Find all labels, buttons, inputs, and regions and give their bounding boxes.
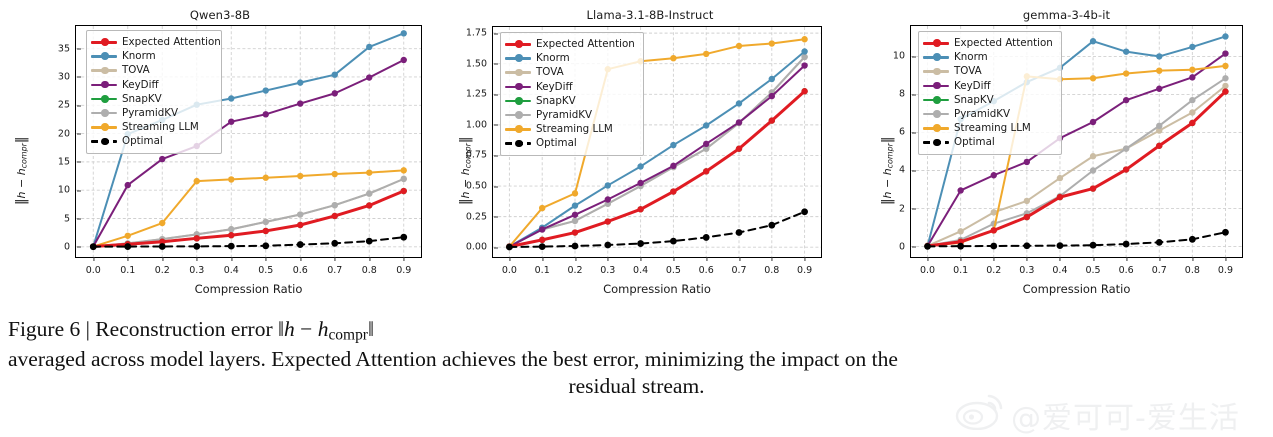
legend-item[interactable]: PyramidKV <box>91 106 215 120</box>
series-marker <box>670 55 676 61</box>
legend-item-label: KeyDiff <box>954 81 991 91</box>
series-marker <box>1123 166 1129 172</box>
legend-item[interactable]: Knorm <box>923 50 1055 64</box>
y-tick-label: 5 <box>64 213 76 224</box>
x-tick-label: 0.6 <box>1119 257 1134 276</box>
series-marker <box>539 205 545 211</box>
series-marker <box>572 202 578 208</box>
y-tick-label: 20 <box>58 128 76 139</box>
x-tick-label: 0.1 <box>120 257 135 276</box>
legend-item-label: Streaming LLM <box>536 124 613 134</box>
series-marker <box>801 62 807 68</box>
y-tick-label: 8 <box>899 89 911 100</box>
series-marker <box>297 211 303 217</box>
series-marker <box>736 229 743 236</box>
legend-item[interactable]: Knorm <box>91 49 215 63</box>
legend-item-label: TOVA <box>954 66 982 76</box>
x-axis-label: Compression Ratio <box>492 282 822 296</box>
series-marker <box>1123 48 1129 54</box>
caption-line-3: residual stream. <box>0 373 1273 401</box>
series-marker <box>801 54 807 60</box>
legend-swatch-icon <box>505 137 531 149</box>
series-marker <box>228 232 234 238</box>
legend-item[interactable]: PyramidKV <box>505 108 637 122</box>
caption-h: h <box>284 317 295 341</box>
series-marker <box>637 240 644 247</box>
chart-panel-gemma-3-4b-it: gemma-3-4b-it ‖h − hcompr‖ 02468100.00.1… <box>860 0 1273 310</box>
legend-swatch-icon <box>923 108 949 120</box>
series-marker <box>768 222 775 229</box>
series-marker <box>263 87 269 93</box>
legend-item[interactable]: SnapKV <box>505 94 637 108</box>
series-marker <box>539 243 546 250</box>
series-marker <box>366 190 372 196</box>
x-tick-label: 0.3 <box>1019 257 1034 276</box>
series-marker <box>400 234 407 241</box>
legend-item[interactable]: Expected Attention <box>923 36 1055 50</box>
series-marker <box>1057 175 1063 181</box>
caption-line-1: Figure 6 | Reconstruction error ‖h − hco… <box>0 316 1273 346</box>
chart-title: gemma-3-4b-it <box>860 8 1273 22</box>
legend-item[interactable]: Knorm <box>505 51 637 65</box>
series-marker <box>957 187 963 193</box>
chart-panel-qwen3-8b: Qwen3-8B ‖h − hcompr‖ 051015202530350.00… <box>0 0 440 310</box>
y-tick-label: 0 <box>64 241 76 252</box>
x-tick-label: 0.8 <box>362 257 377 276</box>
x-tick-label: 0.2 <box>155 257 170 276</box>
series-marker <box>1156 239 1163 246</box>
series-marker <box>1090 119 1096 125</box>
legend-item-label: Expected Attention <box>122 37 221 47</box>
x-tick-label: 0.9 <box>797 257 812 276</box>
figure-root: Qwen3-8B ‖h − hcompr‖ 051015202530350.00… <box>0 0 1273 436</box>
legend-item[interactable]: KeyDiff <box>923 79 1055 93</box>
series-marker <box>228 176 234 182</box>
chart-title: Llama-3.1-8B-Instruct <box>440 8 860 22</box>
series-marker <box>801 208 808 215</box>
caption-subscript: compr <box>328 326 368 343</box>
x-tick-label: 0.1 <box>535 257 550 276</box>
y-tick-label: 25 <box>58 100 76 111</box>
x-tick-label: 0.5 <box>258 257 273 276</box>
y-tick-label: 15 <box>58 156 76 167</box>
legend-swatch-icon <box>923 65 949 77</box>
series-marker <box>736 100 742 106</box>
legend-item-label: SnapKV <box>122 94 162 104</box>
series-marker <box>366 169 372 175</box>
legend-swatch-icon <box>505 123 531 135</box>
chart-title: Qwen3-8B <box>0 8 440 22</box>
y-tick-label: 35 <box>58 43 76 54</box>
x-tick-label: 0.2 <box>567 257 582 276</box>
series-marker <box>572 190 578 196</box>
series-marker <box>670 142 676 148</box>
series-marker <box>539 237 545 243</box>
x-axis-label: Compression Ratio <box>75 282 422 296</box>
series-marker <box>1090 185 1096 191</box>
series-marker <box>228 226 234 232</box>
plot-area: 02468100.00.10.20.30.40.50.60.70.80.9Exp… <box>910 25 1243 258</box>
legend-item-label: Optimal <box>536 138 577 148</box>
legend-item-label: PyramidKV <box>536 110 592 120</box>
legend-swatch-icon <box>505 38 531 50</box>
series-marker <box>1090 75 1096 81</box>
chart-legend: Expected AttentionKnormTOVAKeyDiffSnapKV… <box>918 31 1062 155</box>
legend-item[interactable]: KeyDiff <box>91 78 215 92</box>
y-tick-label: 1.00 <box>466 119 493 130</box>
legend-item-label: SnapKV <box>536 96 576 106</box>
series-marker <box>1156 53 1162 59</box>
series-marker <box>1222 33 1228 39</box>
series-line <box>93 179 404 247</box>
legend-swatch-icon <box>923 37 949 49</box>
legend-item[interactable]: TOVA <box>91 63 215 77</box>
series-marker <box>159 156 165 162</box>
series-marker <box>1156 67 1162 73</box>
series-marker <box>1222 88 1228 94</box>
series-marker <box>572 212 578 218</box>
y-tick-label: 6 <box>899 127 911 138</box>
series-marker <box>366 202 372 208</box>
x-tick-label: 0.8 <box>1185 257 1200 276</box>
series-marker <box>1189 236 1196 243</box>
series-marker <box>1123 241 1130 248</box>
series-marker <box>263 219 269 225</box>
series-marker <box>1189 120 1195 126</box>
y-tick-label: 0.00 <box>466 242 493 253</box>
series-marker <box>637 206 643 212</box>
series-marker <box>703 168 709 174</box>
legend-item[interactable]: Optimal <box>91 134 215 148</box>
x-tick-label: 0.0 <box>920 257 935 276</box>
series-marker <box>297 222 303 228</box>
series-marker <box>124 243 131 250</box>
y-tick-label: 30 <box>58 71 76 82</box>
legend-swatch-icon <box>91 79 117 91</box>
series-marker <box>637 163 643 169</box>
series-marker <box>670 188 676 194</box>
y-axis-label: ‖h − hcompr‖ <box>880 137 895 205</box>
series-marker <box>1189 67 1195 73</box>
caption-norm-close: ‖ <box>368 317 374 341</box>
series-marker <box>1123 145 1129 151</box>
legend-item-label: PyramidKV <box>122 108 178 118</box>
x-axis-label: Compression Ratio <box>910 282 1243 296</box>
y-tick-label: 1.25 <box>466 89 493 100</box>
series-marker <box>401 176 407 182</box>
series-marker <box>605 182 611 188</box>
series-marker <box>1222 75 1228 81</box>
series-marker <box>1222 63 1228 69</box>
series-marker <box>332 213 338 219</box>
series-marker <box>1090 153 1096 159</box>
series-marker <box>332 171 338 177</box>
legend-swatch-icon <box>505 52 531 64</box>
chart-legend: Expected AttentionKnormTOVAKeyDiffSnapKV… <box>86 30 222 154</box>
series-marker <box>801 36 807 42</box>
x-tick-label: 0.9 <box>396 257 411 276</box>
series-marker <box>1123 70 1129 76</box>
series-marker <box>1156 143 1162 149</box>
series-marker <box>194 235 200 241</box>
series-marker <box>572 243 579 250</box>
legend-item[interactable]: KeyDiff <box>505 80 637 94</box>
series-marker <box>506 244 513 251</box>
chart-panels: Qwen3-8B ‖h − hcompr‖ 051015202530350.00… <box>0 0 1273 310</box>
x-tick-label: 0.1 <box>953 257 968 276</box>
x-tick-label: 0.5 <box>666 257 681 276</box>
legend-item-label: TOVA <box>536 67 564 77</box>
legend-item-label: Expected Attention <box>536 39 635 49</box>
series-marker <box>990 243 997 250</box>
y-tick-label: 4 <box>899 165 911 176</box>
legend-item-label: PyramidKV <box>954 109 1010 119</box>
legend-item[interactable]: Streaming LLM <box>505 122 637 136</box>
series-marker <box>159 243 166 250</box>
series-marker <box>670 163 676 169</box>
x-tick-label: 0.6 <box>293 257 308 276</box>
series-marker <box>332 71 338 77</box>
series-marker <box>703 141 709 147</box>
series-marker <box>262 242 269 249</box>
x-tick-label: 0.4 <box>1052 257 1067 276</box>
chart-legend: Expected AttentionKnormTOVAKeyDiffSnapKV… <box>500 32 644 156</box>
series-marker <box>401 167 407 173</box>
y-tick-label: 0 <box>899 241 911 252</box>
legend-item[interactable]: SnapKV <box>923 93 1055 107</box>
series-marker <box>263 228 269 234</box>
series-marker <box>1156 86 1162 92</box>
series-marker <box>401 30 407 36</box>
legend-swatch-icon <box>923 122 949 134</box>
series-marker <box>125 233 131 239</box>
series-marker <box>736 119 742 125</box>
series-marker <box>957 243 964 250</box>
y-tick-label: 1.75 <box>466 28 493 39</box>
series-marker <box>1057 242 1064 249</box>
legend-swatch-icon <box>923 136 949 148</box>
series-marker <box>924 243 931 250</box>
x-tick-label: 0.8 <box>764 257 779 276</box>
y-axis-label: ‖h − hcompr‖ <box>458 137 473 205</box>
series-marker <box>1023 242 1030 249</box>
series-marker <box>263 111 269 117</box>
y-tick-label: 1.50 <box>466 58 493 69</box>
x-tick-label: 0.7 <box>327 257 342 276</box>
series-marker <box>1024 198 1030 204</box>
series-marker <box>1090 242 1097 249</box>
y-tick-label: 10 <box>58 185 76 196</box>
legend-item-label: Streaming LLM <box>122 122 199 132</box>
y-tick-label: 10 <box>893 51 911 62</box>
y-tick-label: 0.50 <box>466 181 493 192</box>
legend-item[interactable]: SnapKV <box>91 92 215 106</box>
series-marker <box>401 57 407 63</box>
series-marker <box>703 234 710 241</box>
series-marker <box>401 188 407 194</box>
series-marker <box>366 44 372 50</box>
series-marker <box>769 117 775 123</box>
caption-text-1: Figure 6 | Reconstruction error <box>8 317 278 341</box>
series-marker <box>605 218 611 224</box>
y-tick-label: 2 <box>899 203 911 214</box>
plot-area: 051015202530350.00.10.20.30.40.50.60.70.… <box>75 25 422 258</box>
series-marker <box>1024 159 1030 165</box>
series-marker <box>769 40 775 46</box>
series-marker <box>331 240 338 247</box>
legend-item-label: KeyDiff <box>122 80 159 90</box>
series-marker <box>801 88 807 94</box>
legend-item-label: Knorm <box>954 52 988 62</box>
series-marker <box>228 118 234 124</box>
series-marker <box>801 48 807 54</box>
series-marker <box>90 243 97 250</box>
x-tick-label: 0.3 <box>189 257 204 276</box>
legend-item[interactable]: TOVA <box>505 65 637 79</box>
x-tick-label: 0.7 <box>731 257 746 276</box>
x-tick-label: 0.5 <box>1085 257 1100 276</box>
series-marker <box>769 93 775 99</box>
legend-item[interactable]: TOVA <box>923 64 1055 78</box>
series-marker <box>605 196 611 202</box>
series-marker <box>637 180 643 186</box>
series-marker <box>991 227 997 233</box>
x-tick-label: 0.4 <box>633 257 648 276</box>
legend-swatch-icon <box>923 94 949 106</box>
series-marker <box>539 226 545 232</box>
series-marker <box>572 218 578 224</box>
x-tick-label: 0.7 <box>1152 257 1167 276</box>
series-marker <box>1090 38 1096 44</box>
series-marker <box>297 100 303 106</box>
series-marker <box>769 76 775 82</box>
legend-swatch-icon <box>923 80 949 92</box>
legend-item-label: TOVA <box>122 65 150 75</box>
legend-item[interactable]: Streaming LLM <box>923 121 1055 135</box>
legend-item-label: Streaming LLM <box>954 123 1031 133</box>
series-marker <box>604 242 611 249</box>
series-marker <box>332 90 338 96</box>
legend-swatch-icon <box>91 107 117 119</box>
series-marker <box>297 241 304 248</box>
y-tick-label: 0.25 <box>466 211 493 222</box>
series-line <box>93 179 404 247</box>
series-marker <box>1189 97 1195 103</box>
legend-item-label: Optimal <box>954 137 995 147</box>
series-marker <box>736 43 742 49</box>
x-tick-label: 0.9 <box>1218 257 1233 276</box>
caption-line-2: averaged across model layers. Expected A… <box>0 346 1273 374</box>
legend-item[interactable]: Streaming LLM <box>91 120 215 134</box>
caption-h2: h <box>318 317 329 341</box>
series-marker <box>1156 123 1162 129</box>
legend-swatch-icon <box>505 109 531 121</box>
series-marker <box>1123 97 1129 103</box>
series-marker <box>159 220 165 226</box>
legend-item-label: Knorm <box>122 51 156 61</box>
legend-item[interactable]: Optimal <box>923 135 1055 149</box>
legend-swatch-icon <box>91 64 117 76</box>
series-marker <box>1189 44 1195 50</box>
series-marker <box>1024 214 1030 220</box>
series-marker <box>366 238 373 245</box>
series-marker <box>263 175 269 181</box>
figure-caption: Figure 6 | Reconstruction error ‖h − hco… <box>0 316 1273 401</box>
legend-item-label: Expected Attention <box>954 38 1053 48</box>
series-marker <box>366 74 372 80</box>
x-tick-label: 0.0 <box>86 257 101 276</box>
legend-swatch-icon <box>923 51 949 63</box>
series-marker <box>125 182 131 188</box>
y-axis-label: ‖h − hcompr‖ <box>14 137 29 205</box>
legend-item-label: Optimal <box>122 136 163 146</box>
legend-item-label: SnapKV <box>954 95 994 105</box>
series-marker <box>1057 194 1063 200</box>
series-marker <box>228 243 235 250</box>
legend-item[interactable]: PyramidKV <box>923 107 1055 121</box>
legend-swatch-icon <box>91 121 117 133</box>
series-marker <box>193 243 200 250</box>
legend-item[interactable]: Expected Attention <box>91 35 215 49</box>
series-marker <box>228 95 234 101</box>
series-marker <box>991 172 997 178</box>
series-marker <box>1222 50 1228 56</box>
series-marker <box>572 229 578 235</box>
legend-item-label: KeyDiff <box>536 82 573 92</box>
series-marker <box>297 79 303 85</box>
series-marker <box>703 51 709 57</box>
x-tick-label: 0.4 <box>224 257 239 276</box>
series-marker <box>1189 74 1195 80</box>
x-tick-label: 0.3 <box>600 257 615 276</box>
x-tick-label: 0.6 <box>699 257 714 276</box>
series-marker <box>703 122 709 128</box>
legend-swatch-icon <box>91 50 117 62</box>
series-marker <box>670 238 677 245</box>
series-marker <box>736 146 742 152</box>
legend-swatch-icon <box>91 93 117 105</box>
series-marker <box>297 173 303 179</box>
series-marker <box>991 209 997 215</box>
series-marker <box>1189 109 1195 115</box>
series-marker <box>1222 229 1229 236</box>
legend-item[interactable]: Optimal <box>505 136 637 150</box>
series-marker <box>332 202 338 208</box>
x-tick-label: 0.2 <box>986 257 1001 276</box>
series-marker <box>194 178 200 184</box>
legend-item-label: Knorm <box>536 53 570 63</box>
plot-area: 0.000.250.500.751.001.251.501.750.00.10.… <box>492 26 822 258</box>
legend-swatch-icon <box>505 81 531 93</box>
legend-swatch-icon <box>505 95 531 107</box>
series-marker <box>1222 83 1228 89</box>
x-tick-label: 0.0 <box>502 257 517 276</box>
chart-panel-llama-31-8b-instruct: Llama-3.1-8B-Instruct ‖h − hcompr‖ 0.000… <box>440 0 860 310</box>
series-marker <box>1090 167 1096 173</box>
legend-swatch-icon <box>91 36 117 48</box>
caption-minus: − <box>295 317 318 341</box>
y-tick-label: 0.75 <box>466 150 493 161</box>
legend-swatch-icon <box>505 66 531 78</box>
series-marker <box>957 228 963 234</box>
legend-swatch-icon <box>91 135 117 147</box>
legend-item[interactable]: Expected Attention <box>505 37 637 51</box>
